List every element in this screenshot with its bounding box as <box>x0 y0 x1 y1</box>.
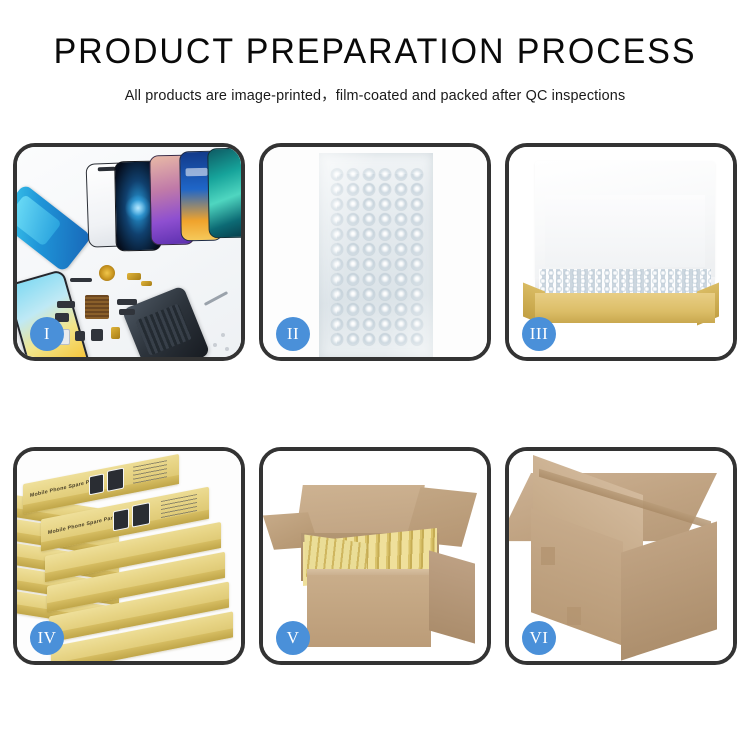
spare-part-screw-3 <box>225 347 229 351</box>
step-badge-1: I <box>30 317 64 351</box>
sealed-carton-tape-patch-1 <box>541 547 555 565</box>
box-artwork-phone-1 <box>89 473 104 495</box>
page-header: PRODUCT PREPARATION PROCESS All products… <box>0 0 750 105</box>
carton-front-panel <box>307 575 431 647</box>
bubble-wrap-sheen <box>319 153 433 357</box>
wrapped-product-in-box <box>539 269 711 295</box>
spare-part-screw-1 <box>213 343 217 347</box>
spare-part-chip-array <box>85 295 109 319</box>
step-panel-4: Mobile Phone Spare Parts Mobile Phone Sp… <box>13 447 245 665</box>
step-badge-3: III <box>522 317 556 351</box>
spare-part-ribbon <box>117 299 137 305</box>
page-subtitle: All products are image-printed，film-coat… <box>0 84 750 105</box>
box-artwork-phone-4 <box>132 502 150 527</box>
step-badge-2: II <box>276 317 310 351</box>
step-panel-2: II <box>259 143 491 361</box>
phone-screen-teal <box>207 148 241 239</box>
step-panel-6: VI <box>505 447 737 665</box>
step-badge-5: V <box>276 621 310 655</box>
spare-part-camera <box>91 329 103 341</box>
carton-side-panel <box>429 550 475 643</box>
mailer-box-lid-face <box>545 195 705 267</box>
mailer-box-front-panel <box>535 293 715 323</box>
process-steps-grid: I II III <box>13 143 737 665</box>
spare-part-battery-connector <box>111 327 120 339</box>
spare-part-ribbon-2 <box>119 309 135 315</box>
step-badge-6: VI <box>522 621 556 655</box>
spare-part-flex-gold <box>127 273 141 280</box>
spare-part-speaker <box>75 331 85 341</box>
box-artwork-phone-2 <box>107 468 124 492</box>
sealed-carton-tape-patch-2 <box>567 607 581 625</box>
spare-part-coil <box>99 265 115 281</box>
spare-part-screw-2 <box>221 333 225 337</box>
step-badge-4: IV <box>30 621 64 655</box>
step-panel-3: III <box>505 143 737 361</box>
box-artwork-phone-3 <box>113 508 129 531</box>
page-title: PRODUCT PREPARATION PROCESS <box>11 34 739 71</box>
spare-part-bracket <box>70 278 92 282</box>
spare-part-connector-gold <box>141 281 152 286</box>
spare-part-flex-cable <box>57 301 75 308</box>
step-panel-1: I <box>13 143 245 361</box>
step-panel-5: V <box>259 447 491 665</box>
